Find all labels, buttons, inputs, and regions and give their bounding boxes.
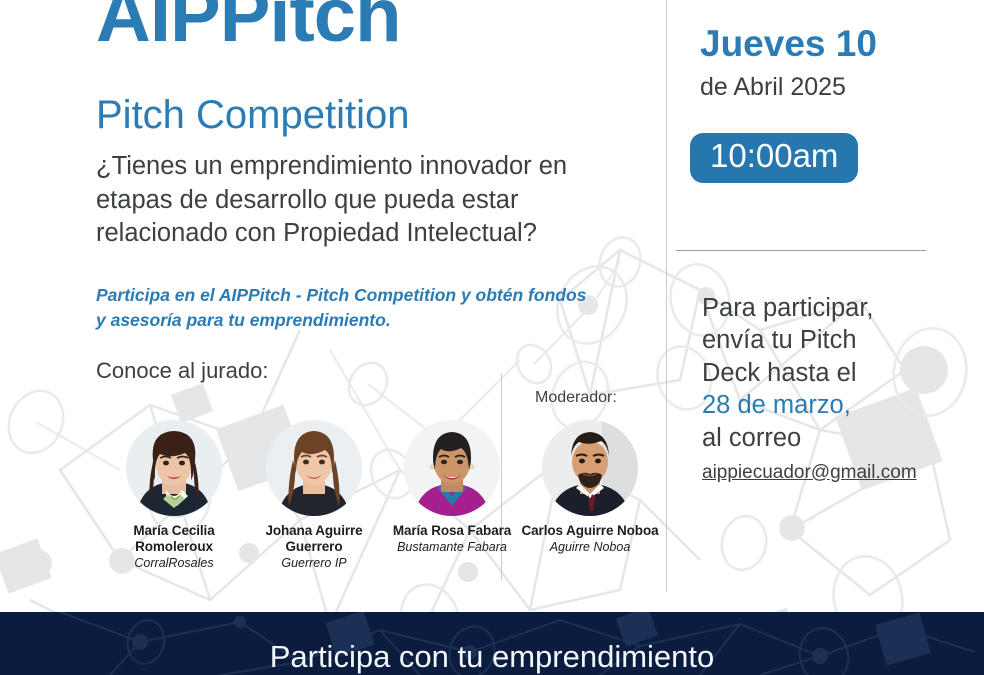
highlight-callout: Participa en el AIPPitch - Pitch Competi… xyxy=(96,283,596,334)
moderator-1: Carlos Aguirre Noboa Aguirre Noboa xyxy=(520,420,660,555)
apply-deadline: 28 de marzo, xyxy=(702,391,851,419)
jury-member-2: Johana Aguirre Guerrero Guerrero IP xyxy=(244,420,384,571)
moderator-section-label: Moderador: xyxy=(535,389,617,407)
avatar-johana-aguirre-guerrero xyxy=(266,420,362,516)
left-column: AIPPitch Pitch Competition ¿Tienes un em… xyxy=(0,0,666,612)
jury-member-name: María Rosa Fabara xyxy=(382,523,522,539)
jury-member-firm: Guerrero IP xyxy=(244,556,384,571)
jury-section-label: Conoce al jurado: xyxy=(96,358,268,384)
jury-member-name: Johana Aguirre Guerrero xyxy=(244,523,384,555)
page-subtitle: Pitch Competition xyxy=(96,95,409,135)
footer-text: Participa con tu emprendimiento xyxy=(0,641,984,672)
jury-member-firm: CorralRosales xyxy=(104,556,244,571)
avatar-maria-rosa-fabara xyxy=(404,420,500,516)
event-date-sub: de Abril 2025 xyxy=(700,75,846,100)
apply-line-2: envía tu Pitch xyxy=(702,326,857,354)
avatar-maria-cecilia-romoleroux xyxy=(126,420,222,516)
lead-question: ¿Tienes un emprendimiento innovador en e… xyxy=(96,150,626,251)
event-time-badge: 10:00am xyxy=(690,133,858,183)
jury-member-3: María Rosa Fabara Bustamante Fabara xyxy=(382,420,522,555)
apply-instructions: Para participar, envía tu Pitch Deck has… xyxy=(702,292,970,486)
footer-bar: Participa con tu emprendimiento xyxy=(0,612,984,675)
jury-member-1: María Cecilia Romoleroux CorralRosales xyxy=(104,420,244,571)
poster-canvas: AIPPitch Pitch Competition ¿Tienes un em… xyxy=(0,0,984,675)
event-date-main: Jueves 10 xyxy=(700,25,877,62)
apply-line-1: Para participar, xyxy=(702,294,874,322)
apply-line-3: Deck hasta el xyxy=(702,359,857,387)
contact-email-link[interactable]: aippiecuador@gmail.com xyxy=(702,461,917,485)
jury-member-name: María Cecilia Romoleroux xyxy=(104,523,244,555)
jury-member-firm: Bustamante Fabara xyxy=(382,540,522,555)
avatar-carlos-aguirre-noboa xyxy=(542,420,638,516)
apply-line-5: al correo xyxy=(702,424,801,452)
page-title: AIPPitch xyxy=(96,0,401,54)
moderator-firm: Aguirre Noboa xyxy=(520,540,660,555)
moderator-name: Carlos Aguirre Noboa xyxy=(520,523,660,539)
right-column: Jueves 10 de Abril 2025 10:00am Para par… xyxy=(666,0,984,612)
